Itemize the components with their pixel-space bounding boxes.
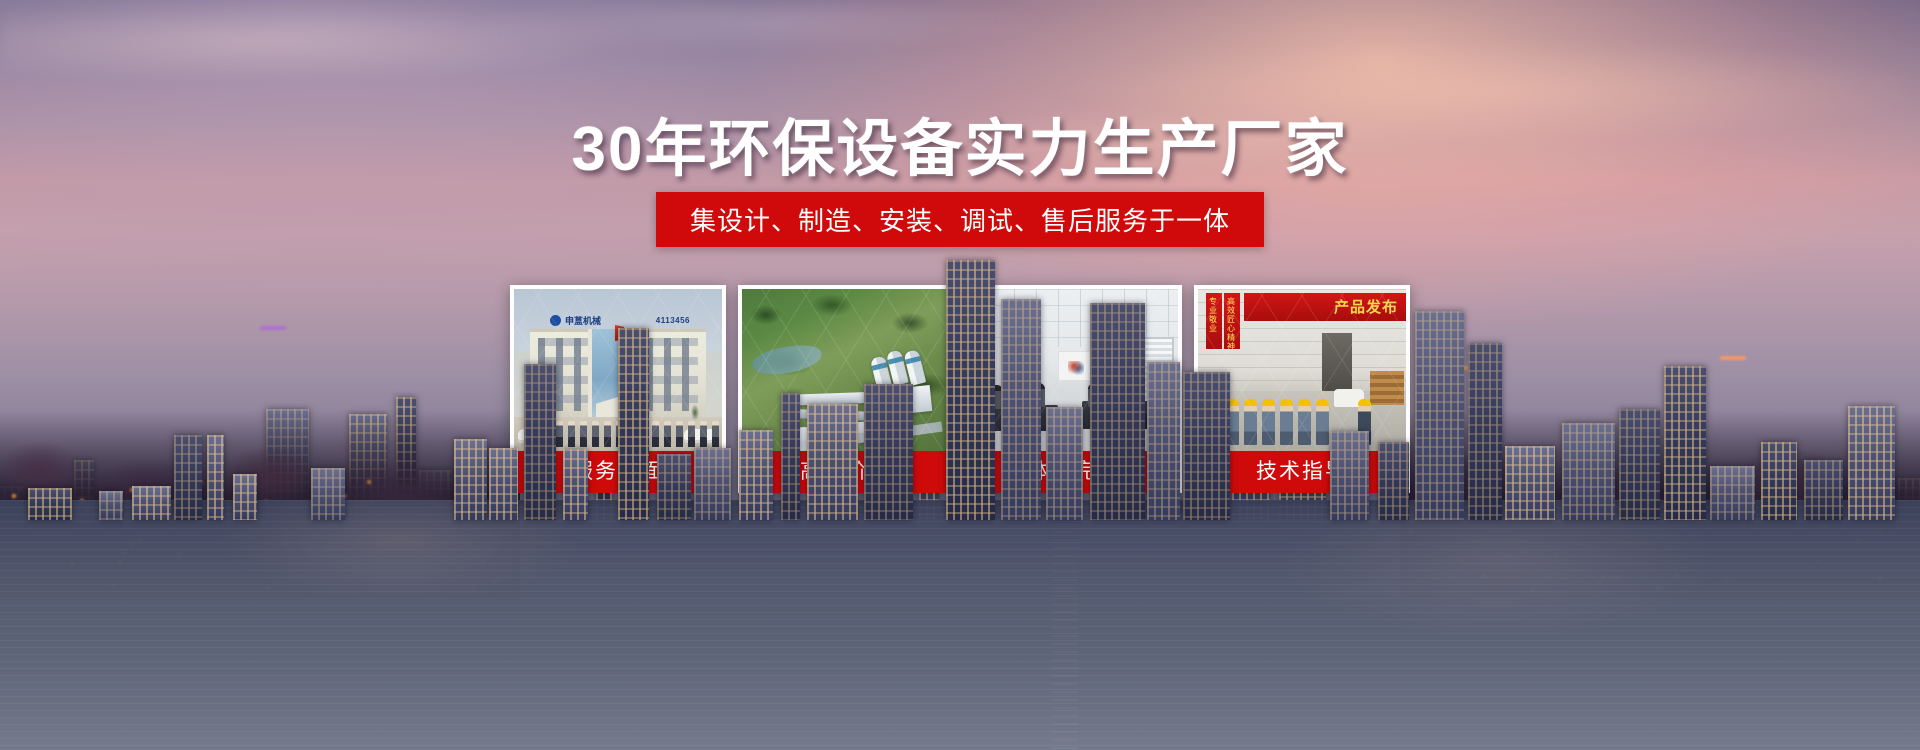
neon-sign <box>260 326 286 330</box>
hero-banner: 30年环保设备实力生产厂家 集设计、制造、安装、调试、售后服务于一体 申蒀机械 … <box>0 0 1920 750</box>
skyline-building <box>174 435 202 520</box>
skyline-building <box>1001 299 1041 520</box>
staff-figure <box>676 421 683 447</box>
staff-figure <box>712 421 719 447</box>
skyline-building <box>1664 366 1706 520</box>
staff-figure <box>604 421 611 447</box>
skyline-building <box>207 435 224 520</box>
skyline-building <box>694 448 731 520</box>
factory-banner-left-text: 专业 敬业 <box>1209 297 1222 333</box>
skyline-building <box>739 430 773 520</box>
skyline-building <box>781 393 800 520</box>
skyline-building <box>28 488 72 520</box>
skyline-building <box>1378 442 1409 520</box>
skyline-building <box>1415 311 1464 520</box>
skyline-building <box>657 454 691 520</box>
staff-figure <box>592 421 599 447</box>
skyline-building <box>311 468 345 520</box>
skyline-building <box>807 404 858 520</box>
staff-figure <box>688 421 695 447</box>
skyline-building <box>1147 362 1180 520</box>
company-sign-text: 申蒀机械 <box>565 314 601 327</box>
skyline-building <box>1505 446 1555 520</box>
company-phone: 4113456 <box>656 316 690 325</box>
staff-figure <box>652 421 659 447</box>
skyline-building <box>1804 460 1843 520</box>
water-reflection <box>0 500 1920 750</box>
factory-banner-right-text: 高效 匠心精神 <box>1227 297 1240 351</box>
skyline-building <box>454 439 487 520</box>
factory-banner-text: 产品发布 <box>1334 296 1398 317</box>
skyline-building <box>864 384 913 520</box>
skyline-building <box>1330 431 1369 520</box>
skyline-building <box>1090 303 1145 520</box>
skyline-building <box>946 260 995 520</box>
skyline-building <box>1710 466 1755 520</box>
skyline-building <box>99 491 123 520</box>
skyline-building <box>1183 372 1230 520</box>
skyline-building <box>1562 423 1615 520</box>
staff-figure <box>556 421 563 447</box>
skyline-building <box>489 448 518 520</box>
skyline-building <box>1046 407 1083 520</box>
staff-figure <box>568 421 575 447</box>
staff-figure <box>664 421 671 447</box>
skyline-building <box>1468 343 1502 520</box>
skyline-building <box>618 328 649 520</box>
neon-sign <box>1720 356 1746 360</box>
shore-light <box>12 494 16 498</box>
skyline-building <box>233 474 257 520</box>
skyline-building <box>1619 409 1660 520</box>
company-logo-icon <box>550 315 561 326</box>
skyline-building <box>524 364 556 520</box>
skyline-building <box>132 486 171 520</box>
skyline-building <box>1848 406 1895 520</box>
staff-figure <box>580 421 587 447</box>
skyline-building <box>563 449 588 520</box>
staff-figure <box>700 421 707 447</box>
skyline-building <box>1761 442 1797 520</box>
building-sign: 申蒀机械 4113456 <box>550 313 690 328</box>
subtitle-banner: 集设计、制造、安装、调试、售后服务于一体 <box>656 192 1264 247</box>
page-title: 30年环保设备实力生产厂家 <box>0 98 1920 188</box>
shore-light <box>367 480 371 484</box>
factory-banner: 产品发布 <box>1244 293 1406 321</box>
